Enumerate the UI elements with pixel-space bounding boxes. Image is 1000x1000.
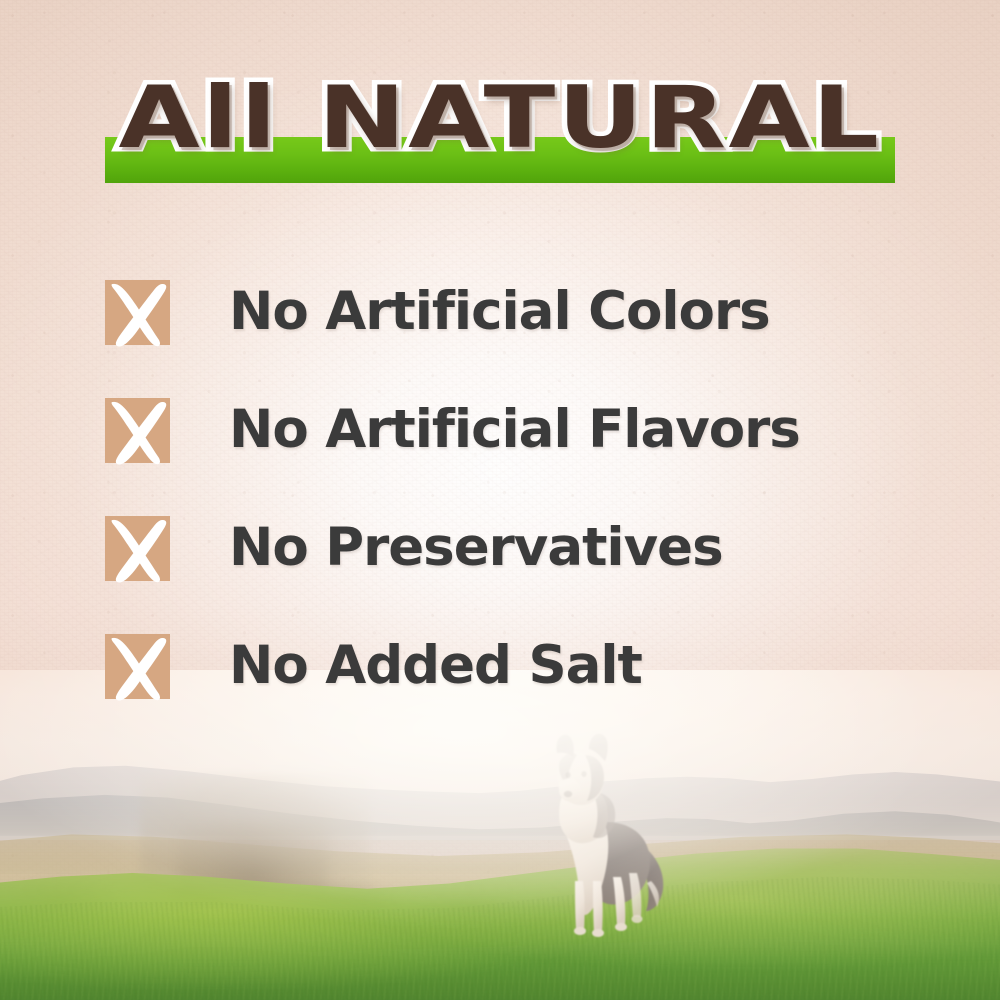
x-mark-icon <box>99 392 176 469</box>
checkbox-no-preservatives <box>105 516 170 581</box>
checkbox-no-added-salt <box>105 634 170 699</box>
x-mark-icon <box>99 510 176 587</box>
checkbox-no-artificial-colors <box>105 280 170 345</box>
x-mark-icon <box>99 274 176 351</box>
claim-label: No Artificial Colors <box>229 284 770 340</box>
border-collie-dog <box>527 731 677 956</box>
list-item: No Artificial Colors <box>105 253 935 371</box>
claim-label: No Artificial Flavors <box>229 402 800 458</box>
product-feature-graphic: All NATURAL No Artificial Colors No Arti… <box>0 0 1000 1000</box>
checkbox-no-artificial-flavors <box>105 398 170 463</box>
claim-label: No Preservatives <box>229 520 723 576</box>
list-item: No Preservatives <box>105 489 935 607</box>
claims-list: No Artificial Colors No Artificial Flavo… <box>105 253 935 725</box>
list-item: No Added Salt <box>105 607 935 725</box>
x-mark-icon <box>99 628 176 705</box>
page-title: All NATURAL <box>0 72 1000 164</box>
list-item: No Artificial Flavors <box>105 371 935 489</box>
claim-label: No Added Salt <box>229 638 642 694</box>
